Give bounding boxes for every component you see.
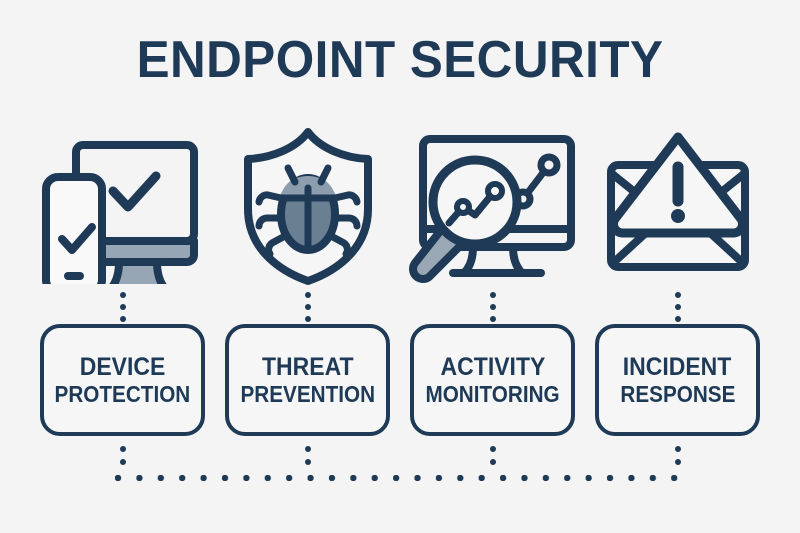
label-box-incident-response[interactable]: INCIDENT RESPONSE: [595, 324, 760, 436]
connector-row-top: [30, 292, 770, 320]
connector-stem-activity-monitoring: [400, 292, 585, 320]
connector-row-bottom: [30, 446, 770, 472]
label-secondary: MONITORING: [425, 381, 559, 408]
icon-cell-device-protection: [30, 126, 215, 286]
connector-dot: [675, 459, 681, 465]
label-box-threat-prevention[interactable]: THREAT PREVENTION: [225, 324, 390, 436]
label-box-activity-monitoring[interactable]: ACTIVITY MONITORING: [410, 324, 575, 436]
connector-dot: [490, 446, 496, 452]
box-cell-incident-response: INCIDENT RESPONSE: [585, 322, 770, 438]
icon-cell-activity-monitoring: [400, 126, 585, 286]
box-cell-device-protection: DEVICE PROTECTION: [30, 322, 215, 438]
label-box-device-protection[interactable]: DEVICE PROTECTION: [40, 324, 205, 436]
connector-dot: [305, 292, 311, 298]
connector-bus-line: [115, 475, 692, 481]
label-box-row: DEVICE PROTECTION THREAT PREVENTION ACTI…: [30, 322, 770, 438]
connector-dot: [490, 304, 496, 310]
connector-stem-bottom-activity-monitoring: [400, 446, 585, 472]
connector-dot: [120, 446, 126, 452]
connector-stem-bottom-device-protection: [30, 446, 215, 472]
incident-response-icon: [603, 131, 753, 281]
activity-monitoring-icon: [405, 129, 580, 284]
connector-dot: [120, 459, 126, 465]
icon-row: [30, 126, 770, 286]
infographic-canvas: ENDPOINT SECURITY: [0, 0, 800, 533]
connector-stem-threat-prevention: [215, 292, 400, 320]
label-primary: DEVICE: [80, 353, 166, 381]
connector-dot: [120, 292, 126, 298]
icon-cell-incident-response: [585, 126, 770, 286]
threat-prevention-icon: [238, 126, 378, 286]
label-primary: ACTIVITY: [440, 353, 545, 381]
box-cell-activity-monitoring: ACTIVITY MONITORING: [400, 322, 585, 438]
connector-stem-bottom-threat-prevention: [215, 446, 400, 472]
label-secondary: PROTECTION: [55, 381, 191, 408]
label-secondary: RESPONSE: [620, 381, 735, 408]
connector-stem-device-protection: [30, 292, 215, 320]
device-protection-icon: [40, 129, 205, 284]
connector-dot: [490, 459, 496, 465]
connector-stem-incident-response: [585, 292, 770, 320]
connector-dot: [490, 292, 496, 298]
label-secondary: PREVENTION: [240, 381, 375, 408]
box-cell-threat-prevention: THREAT PREVENTION: [215, 322, 400, 438]
connector-dot: [305, 459, 311, 465]
connector-dot: [675, 292, 681, 298]
connector-dot: [675, 446, 681, 452]
connector-stem-bottom-incident-response: [585, 446, 770, 472]
label-primary: THREAT: [262, 353, 354, 381]
connector-dot: [675, 304, 681, 310]
icon-cell-threat-prevention: [215, 126, 400, 286]
page-title: ENDPOINT SECURITY: [20, 30, 780, 90]
label-primary: INCIDENT: [623, 353, 732, 381]
connector-dot: [120, 304, 126, 310]
connector-dot: [305, 304, 311, 310]
connector-dot: [305, 446, 311, 452]
